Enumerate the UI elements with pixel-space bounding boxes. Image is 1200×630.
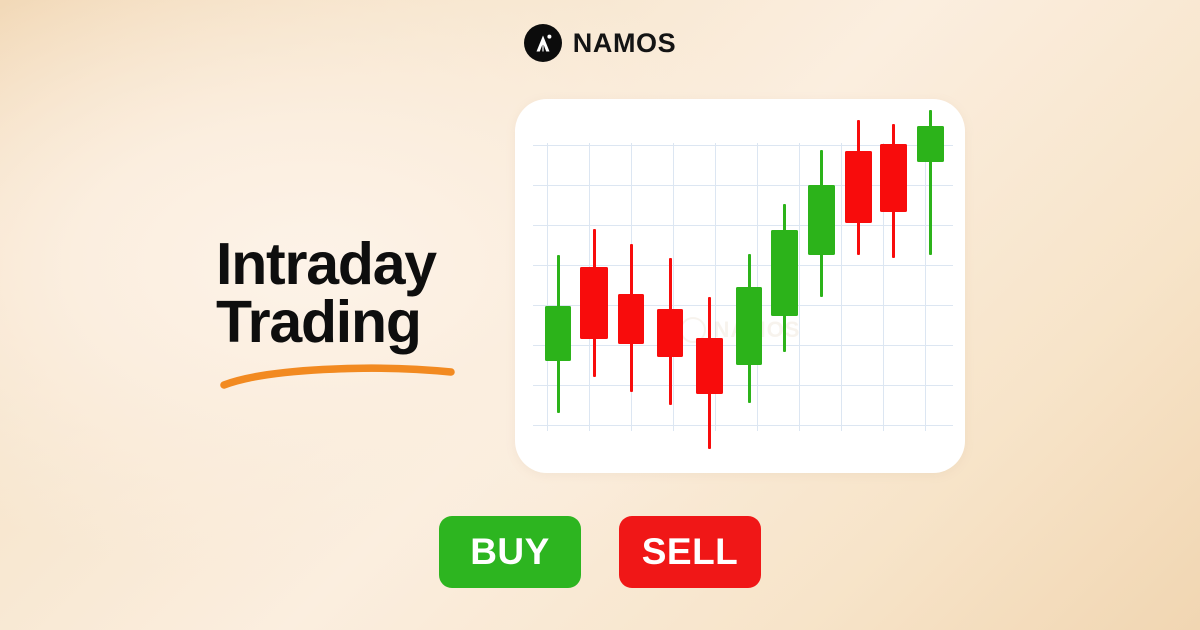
trade-actions: BUY SELL (0, 516, 1200, 588)
headline-line-1: Intraday (216, 231, 436, 297)
orange-swoosh-underline (220, 361, 456, 391)
candle-4 (657, 99, 683, 473)
candle-2 (580, 99, 608, 473)
brand-logo: NAMOS (0, 24, 1200, 62)
buy-button[interactable]: BUY (439, 516, 581, 588)
candle-9 (845, 99, 872, 473)
candle-8 (808, 99, 835, 473)
candle-1 (545, 99, 571, 473)
candlestick-chart-card: NAMOS (515, 99, 965, 473)
candle-3 (618, 99, 644, 473)
sell-button[interactable]: SELL (619, 516, 761, 588)
candle-7 (771, 99, 798, 473)
candle-6 (736, 99, 762, 473)
brand-name: NAMOS (573, 28, 677, 59)
candle-5 (696, 99, 723, 473)
candle-11 (917, 99, 944, 473)
candlestick-series (515, 99, 965, 473)
candle-10 (880, 99, 907, 473)
namos-a-mark-icon (524, 24, 562, 62)
